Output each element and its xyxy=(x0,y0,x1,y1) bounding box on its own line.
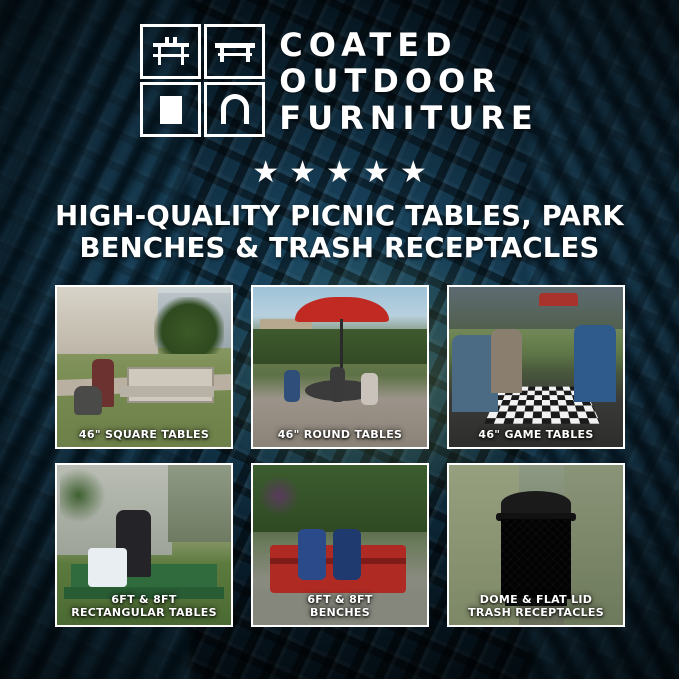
headline-line-1: HIGH-QUALITY PICNIC TABLES, PARK xyxy=(30,200,649,232)
product-banner-image: COATED OUTDOOR FURNITURE ★ ★ ★ ★ ★ HIGH-… xyxy=(0,0,679,679)
picnic-table-icon xyxy=(140,24,201,79)
tile-caption-benches: 6FT & 8FT BENCHES xyxy=(253,589,427,625)
logo-line-3: FURNITURE xyxy=(279,101,538,136)
star-icon-3: ★ xyxy=(326,158,353,188)
product-tile-game-tables[interactable]: 46" GAME TABLES xyxy=(447,285,625,449)
tile-caption-trash-receptacles-line1: DOME & FLAT LID xyxy=(451,594,621,606)
banner-content: COATED OUTDOOR FURNITURE ★ ★ ★ ★ ★ HIGH-… xyxy=(0,0,679,679)
brand-logo: COATED OUTDOOR FURNITURE xyxy=(0,24,679,139)
star-rating: ★ ★ ★ ★ ★ xyxy=(0,158,679,188)
product-tile-square-tables[interactable]: 46" SQUARE TABLES xyxy=(55,285,233,449)
logo-line-1: COATED xyxy=(279,28,538,63)
tile-caption-rectangular-tables-line1: 6FT & 8FT xyxy=(59,594,229,606)
park-bench-icon xyxy=(204,24,265,79)
headline: HIGH-QUALITY PICNIC TABLES, PARK BENCHES… xyxy=(30,200,649,265)
logo-wordmark: COATED OUTDOOR FURNITURE xyxy=(279,28,538,136)
product-tile-grid: 46" SQUARE TABLES 46" ROUND TABLES 46" G… xyxy=(55,285,625,627)
star-icon-4: ★ xyxy=(363,158,390,188)
star-icon-2: ★ xyxy=(289,158,316,188)
tile-caption-rectangular-tables-line2: RECTANGULAR TABLES xyxy=(59,607,229,619)
logo-mark xyxy=(140,24,265,139)
product-tile-benches[interactable]: 6FT & 8FT BENCHES xyxy=(251,463,429,627)
star-icon-5: ★ xyxy=(400,158,427,188)
trash-receptacle-icon xyxy=(140,82,201,137)
tile-caption-trash-receptacles-line2: TRASH RECEPTACLES xyxy=(451,607,621,619)
logo-line-2: OUTDOOR xyxy=(279,64,538,99)
product-tile-rectangular-tables[interactable]: 6FT & 8FT RECTANGULAR TABLES xyxy=(55,463,233,627)
tile-caption-rectangular-tables: 6FT & 8FT RECTANGULAR TABLES xyxy=(57,589,231,625)
tile-caption-trash-receptacles: DOME & FLAT LID TRASH RECEPTACLES xyxy=(449,589,623,625)
star-icon-1: ★ xyxy=(252,158,279,188)
tile-caption-game-tables: 46" GAME TABLES xyxy=(449,424,623,447)
tile-caption-square-tables: 46" SQUARE TABLES xyxy=(57,424,231,447)
product-tile-round-tables[interactable]: 46" ROUND TABLES xyxy=(251,285,429,449)
tile-caption-benches-line1: 6FT & 8FT xyxy=(255,594,425,606)
arch-bench-icon xyxy=(204,82,265,137)
product-tile-trash-receptacles[interactable]: DOME & FLAT LID TRASH RECEPTACLES xyxy=(447,463,625,627)
tile-caption-benches-line2: BENCHES xyxy=(255,607,425,619)
headline-line-2: BENCHES & TRASH RECEPTACLES xyxy=(30,232,649,264)
tile-caption-round-tables: 46" ROUND TABLES xyxy=(253,424,427,447)
